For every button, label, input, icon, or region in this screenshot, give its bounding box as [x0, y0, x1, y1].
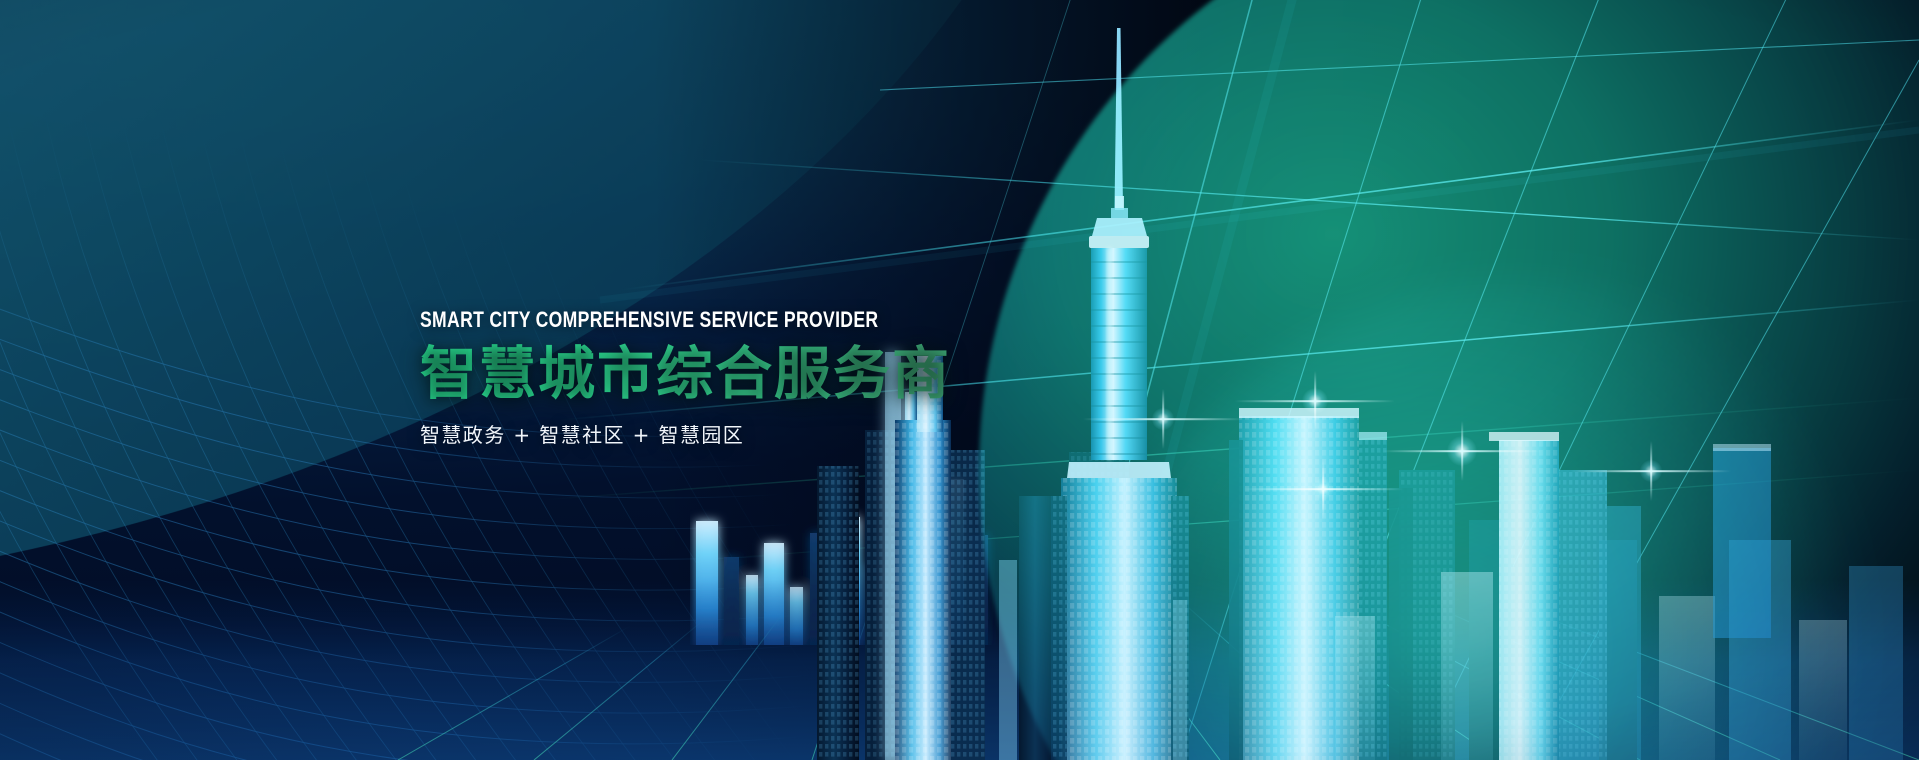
- hero-subline-services: 智慧政务 + 智慧社区 + 智慧园区: [420, 419, 993, 448]
- hero-copy-block: SMART CITY COMPREHENSIVE SERVICE PROVIDE…: [420, 308, 993, 448]
- hero-eyebrow-english: SMART CITY COMPREHENSIVE SERVICE PROVIDE…: [420, 308, 878, 332]
- hero-headline-chinese: 智慧城市综合服务商: [420, 343, 993, 407]
- green-radial-overlay: [979, 0, 1919, 760]
- smart-city-hero-banner: SMART CITY COMPREHENSIVE SERVICE PROVIDE…: [0, 0, 1919, 760]
